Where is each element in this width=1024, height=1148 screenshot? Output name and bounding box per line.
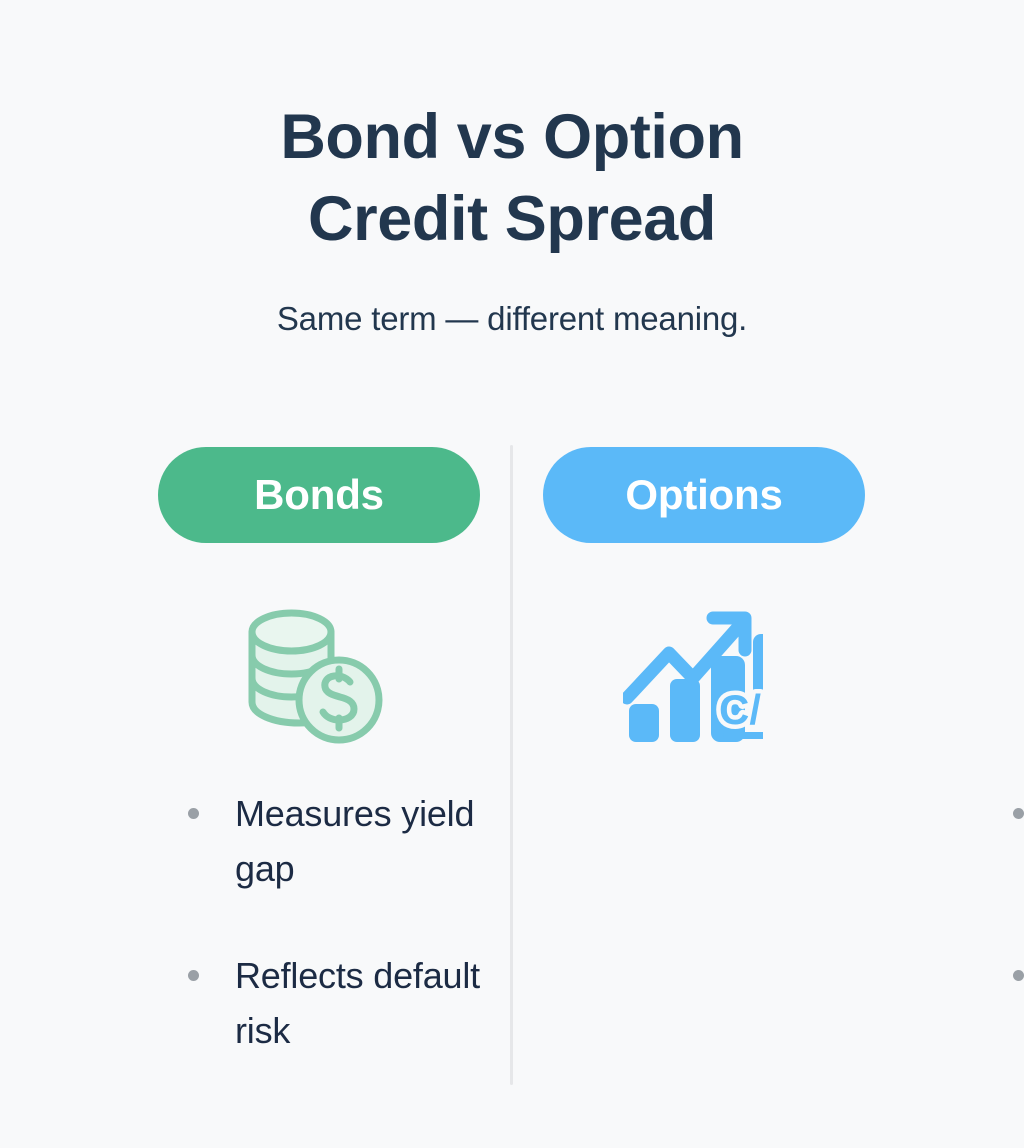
badge-options-label: Options xyxy=(625,474,782,516)
icon-wrap-options: C/P C/P xyxy=(505,598,945,758)
badge-bonds[interactable]: Bonds xyxy=(158,447,480,543)
bullet-text: Measures yield gap xyxy=(235,793,474,889)
badge-bonds-label: Bonds xyxy=(254,474,384,516)
header: Bond vs Option Credit Spread Same term —… xyxy=(0,96,1024,340)
bullet-dot-icon xyxy=(188,808,199,819)
infographic-root: Bond vs Option Credit Spread Same term —… xyxy=(0,0,1024,1148)
bullet-dot-icon xyxy=(1013,970,1024,981)
bullet-dot-icon xyxy=(1013,808,1024,819)
bullet-list-bonds: Measures yield gap Reflects default risk xyxy=(80,786,520,1058)
icon-wrap-bonds xyxy=(80,598,520,758)
list-item: Generates premium xyxy=(1013,948,1024,1058)
coin-stack-dollar-icon xyxy=(240,606,386,751)
column-options: Options C/P C/P xyxy=(505,447,945,1058)
list-item: Reflects default risk xyxy=(188,948,495,1058)
badge-options[interactable]: Options xyxy=(543,447,865,543)
list-item: Measures yield gap xyxy=(188,786,495,896)
bar-chart-arrow-up-icon: C/P C/P xyxy=(623,606,763,751)
bullet-list-options: Defines strategy Generates premium xyxy=(505,786,1013,1058)
comparison-columns: Bonds xyxy=(0,447,1024,1107)
page-subtitle: Same term — different meaning. xyxy=(0,260,1024,340)
list-item: Defines strategy xyxy=(1013,786,1024,896)
column-bonds: Bonds xyxy=(80,447,520,1058)
bullet-text: Reflects default risk xyxy=(235,955,480,1051)
page-title: Bond vs Option Credit Spread xyxy=(0,96,1024,260)
bullet-dot-icon xyxy=(188,970,199,981)
cp-overlay-text: C/P xyxy=(719,686,763,733)
